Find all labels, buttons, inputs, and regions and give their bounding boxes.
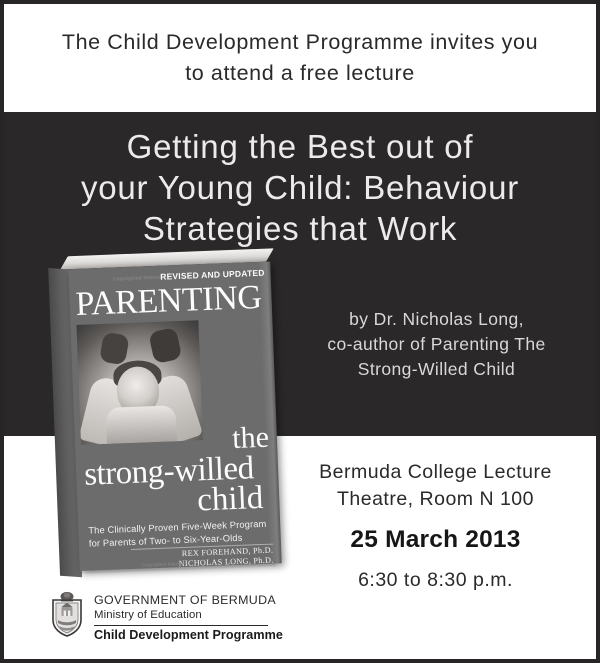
venue-line-1: Bermuda College Lecture: [293, 459, 578, 486]
header-band: The Child Development Programme invites …: [4, 4, 596, 112]
speaker-block: by Dr. Nicholas Long, co-author of Paren…: [299, 307, 574, 382]
book-cover-photo: [76, 320, 203, 445]
header-line-2: to attend a free lecture: [30, 58, 570, 89]
photo-hand-left: [99, 332, 130, 366]
photo-hand-right: [148, 327, 182, 364]
book-cover-image: Copyrighted Material REVISED AND UPDATED…: [48, 262, 284, 592]
book-copyright-top: Copyrighted Material: [113, 275, 163, 283]
logo-programme-line: Child Development Programme: [94, 628, 283, 643]
logo-ministry-line: Ministry of Education: [94, 608, 283, 623]
book-title-child: child: [197, 480, 264, 519]
event-time: 6:30 to 8:30 p.m.: [293, 567, 578, 594]
logo-divider: [94, 625, 268, 626]
lecture-poster: The Child Development Programme invites …: [0, 0, 600, 663]
event-date: 25 March 2013: [293, 525, 578, 555]
book-copyright-bottom: Copyrighted Material: [142, 561, 185, 568]
book-3d: Copyrighted Material REVISED AND UPDATED…: [48, 253, 292, 574]
logo-government-line: GOVERNMENT OF BERMUDA: [94, 593, 283, 608]
book-authors: REX FOREHAND, Ph.D. NICHOLAS LONG, Ph.D.: [178, 546, 274, 570]
book-title-parenting: PARENTING: [75, 279, 262, 324]
government-logo: GOVERNMENT OF BERMUDA Ministry of Educat…: [49, 590, 283, 643]
header-line-1: The Child Development Programme invites …: [30, 27, 570, 58]
book-front-cover: Copyrighted Material REVISED AND UPDATED…: [68, 261, 281, 571]
event-details: Bermuda College Lecture Theatre, Room N …: [293, 459, 578, 594]
speaker-line-2: co-author of Parenting The: [299, 332, 574, 357]
speaker-line-1: by Dr. Nicholas Long,: [299, 307, 574, 332]
logo-text-block: GOVERNMENT OF BERMUDA Ministry of Educat…: [94, 590, 283, 643]
venue-line-2: Theatre, Room N 100: [293, 486, 578, 513]
photo-child-body: [106, 405, 177, 444]
header-text-block: The Child Development Programme invites …: [4, 27, 596, 89]
bermuda-coat-of-arms-icon: [49, 590, 85, 638]
speaker-line-3: Strong-Willed Child: [299, 357, 574, 382]
